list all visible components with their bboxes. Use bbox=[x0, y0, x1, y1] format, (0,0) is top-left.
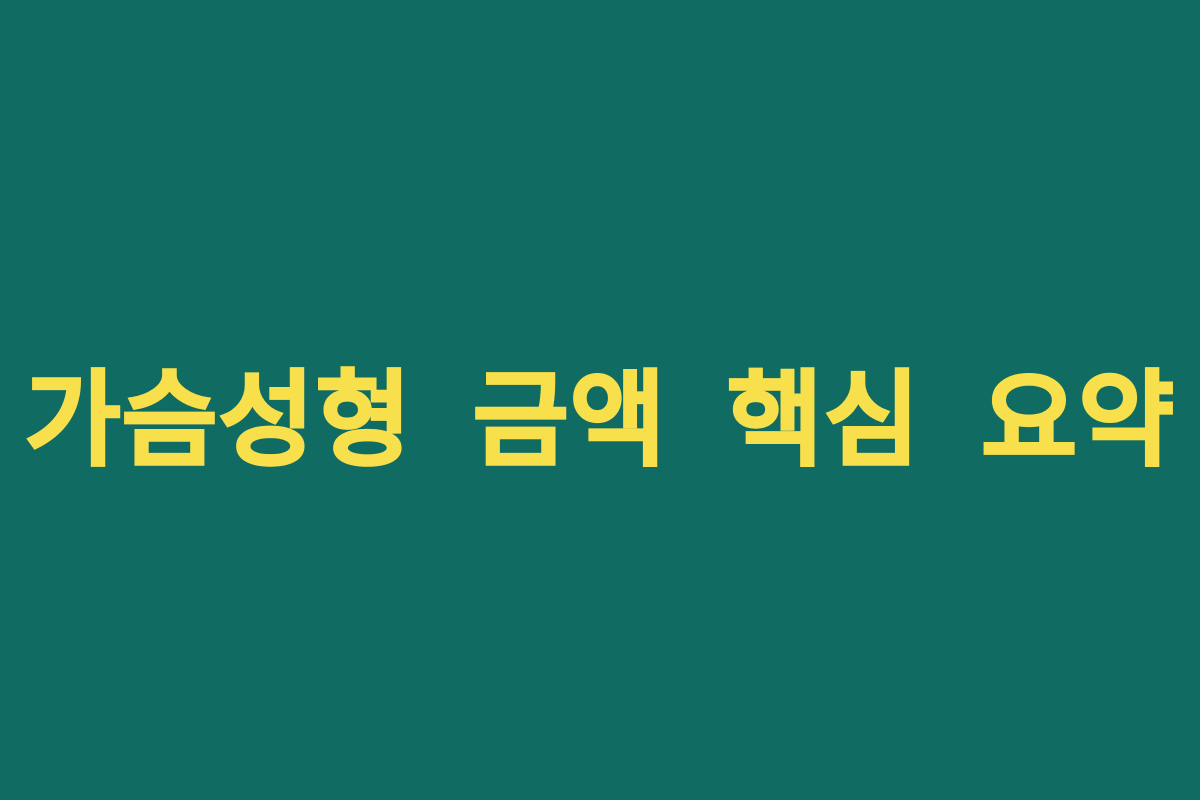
headline-block: 가슴성형 금액 핵심 요약 bbox=[0, 365, 1200, 475]
title-card: 가슴성형 금액 핵심 요약 bbox=[0, 0, 1200, 800]
page-title: 가슴성형 금액 핵심 요약 bbox=[25, 365, 1175, 475]
